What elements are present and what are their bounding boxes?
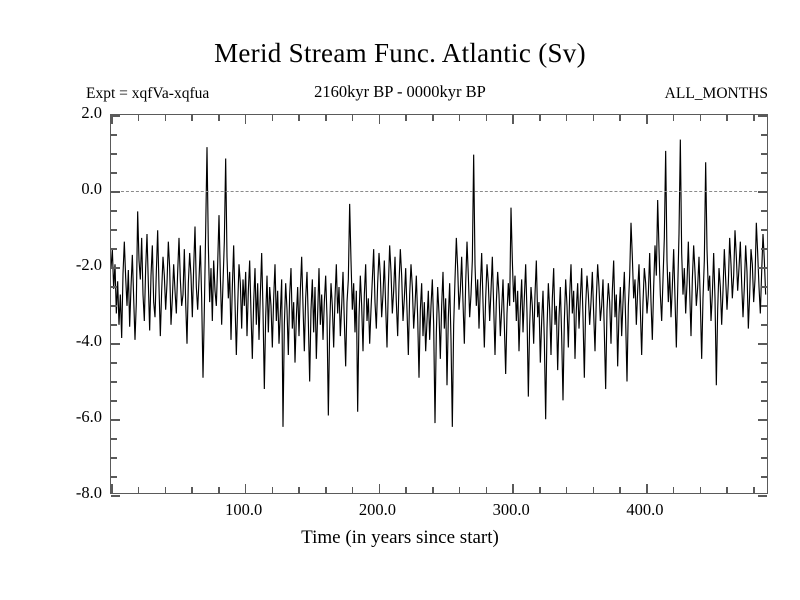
axis-tick	[111, 191, 120, 193]
x-tick-label: 300.0	[466, 500, 556, 520]
axis-tick	[761, 400, 767, 402]
page-title: Merid Stream Func. Atlantic (Sv)	[0, 38, 800, 69]
axis-tick	[646, 484, 648, 493]
axis-tick	[761, 153, 767, 155]
axis-tick	[761, 362, 767, 364]
y-tick-label: -2.0	[44, 255, 102, 275]
axis-tick	[758, 343, 767, 345]
axis-tick	[111, 248, 117, 250]
axis-tick	[761, 476, 767, 478]
axis-tick	[165, 115, 167, 121]
y-tick-label: 0.0	[44, 179, 102, 199]
axis-tick	[673, 487, 675, 493]
axis-tick	[700, 115, 702, 121]
axis-tick	[405, 487, 407, 493]
plot-frame	[110, 114, 768, 494]
zero-reference-line	[111, 191, 767, 192]
axis-tick	[753, 115, 755, 121]
axis-tick	[619, 487, 621, 493]
axis-tick	[111, 419, 120, 421]
axis-tick	[111, 210, 117, 212]
axis-tick	[539, 487, 541, 493]
axis-tick	[245, 484, 247, 493]
axis-tick	[726, 115, 728, 121]
axis-tick	[111, 457, 117, 459]
axis-tick	[111, 438, 117, 440]
axis-tick	[298, 115, 300, 121]
axis-tick	[761, 134, 767, 136]
axis-tick	[512, 484, 514, 493]
y-tick-label: -6.0	[44, 407, 102, 427]
axis-tick	[593, 487, 595, 493]
axis-tick	[325, 115, 327, 121]
axis-tick	[761, 172, 767, 174]
axis-tick	[673, 115, 675, 121]
axis-tick	[191, 115, 193, 121]
axis-tick	[138, 115, 140, 121]
x-axis-title: Time (in years since start)	[0, 527, 800, 549]
axis-tick	[753, 487, 755, 493]
axis-tick	[352, 115, 354, 121]
axis-tick	[566, 115, 568, 121]
axis-tick	[111, 115, 113, 124]
axis-tick	[761, 457, 767, 459]
axis-tick	[218, 487, 220, 493]
axis-tick	[758, 495, 767, 497]
axis-tick	[432, 115, 434, 121]
axis-tick	[111, 362, 117, 364]
axis-tick	[272, 115, 274, 121]
x-tick-label: 100.0	[199, 500, 289, 520]
x-tick-label: 400.0	[600, 500, 690, 520]
axis-tick	[486, 115, 488, 121]
plot-clip	[111, 115, 767, 493]
axis-tick	[165, 487, 167, 493]
axis-tick	[111, 324, 117, 326]
axis-tick	[379, 484, 381, 493]
axis-tick	[593, 115, 595, 121]
axis-tick	[700, 487, 702, 493]
axis-tick	[459, 115, 461, 121]
axis-tick	[111, 484, 113, 493]
axis-tick	[111, 400, 117, 402]
axis-tick	[138, 487, 140, 493]
axis-tick	[111, 305, 117, 307]
axis-tick	[111, 476, 117, 478]
axis-tick	[379, 115, 381, 124]
axis-tick	[218, 115, 220, 121]
axis-tick	[459, 487, 461, 493]
axis-tick	[111, 381, 117, 383]
axis-tick	[761, 305, 767, 307]
axis-tick	[726, 487, 728, 493]
axis-tick	[111, 172, 117, 174]
axis-tick	[758, 419, 767, 421]
axis-tick	[761, 438, 767, 440]
axis-tick	[761, 248, 767, 250]
axis-tick	[761, 324, 767, 326]
axis-tick	[111, 229, 117, 231]
axis-tick	[245, 115, 247, 124]
axis-tick	[758, 115, 767, 117]
axis-tick	[111, 153, 117, 155]
axis-tick	[272, 487, 274, 493]
axis-tick	[111, 267, 120, 269]
axis-tick	[619, 115, 621, 121]
axis-tick	[761, 286, 767, 288]
axis-tick	[325, 487, 327, 493]
x-tick-label: 200.0	[332, 500, 422, 520]
axis-tick	[352, 487, 354, 493]
axis-tick	[758, 267, 767, 269]
axis-tick	[486, 487, 488, 493]
axis-tick	[761, 229, 767, 231]
plot-page: Merid Stream Func. Atlantic (Sv) Expt = …	[0, 0, 800, 600]
axis-tick	[539, 115, 541, 121]
timeseries-line	[111, 115, 767, 493]
axis-tick	[191, 487, 193, 493]
axis-tick	[512, 115, 514, 124]
axis-tick	[646, 115, 648, 124]
axis-tick	[111, 495, 120, 497]
axis-tick	[432, 487, 434, 493]
months-label: ALL_MONTHS	[665, 85, 768, 103]
y-tick-label: 2.0	[44, 103, 102, 123]
axis-tick	[298, 487, 300, 493]
axis-tick	[761, 381, 767, 383]
axis-tick	[111, 134, 117, 136]
axis-tick	[758, 191, 767, 193]
y-tick-label: -8.0	[44, 483, 102, 503]
axis-tick	[405, 115, 407, 121]
axis-tick	[566, 487, 568, 493]
axis-tick	[111, 286, 117, 288]
axis-tick	[761, 210, 767, 212]
axis-tick	[111, 343, 120, 345]
y-tick-label: -4.0	[44, 331, 102, 351]
